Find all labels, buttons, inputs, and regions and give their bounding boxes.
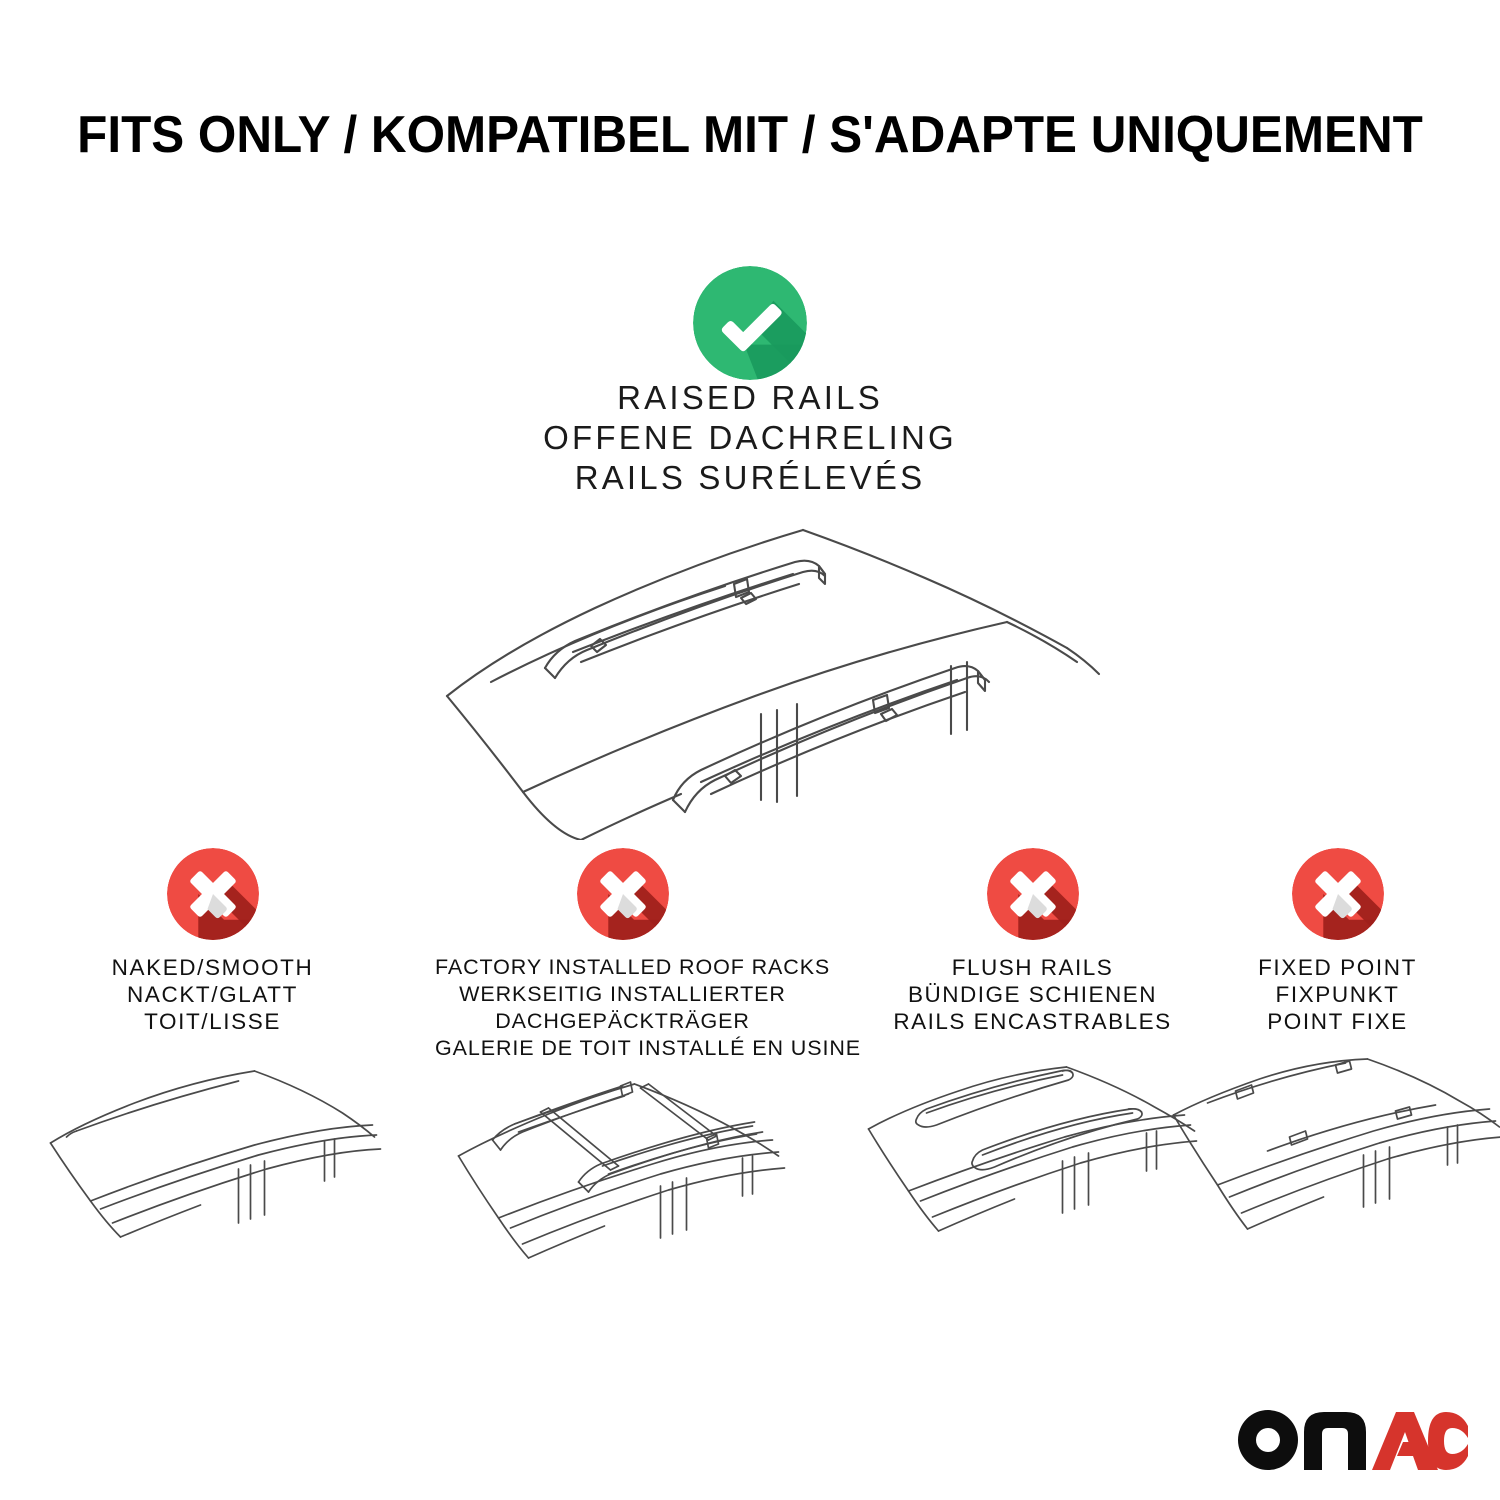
column-label-line: FIXED POINT	[1150, 954, 1500, 981]
car-roof-naked-smooth-illustration	[25, 1051, 400, 1281]
column-label-line: POINT FIXE	[1150, 1008, 1500, 1035]
column-label-line: DACHGEPÄCKTRÄGER	[435, 1008, 810, 1035]
compatible-caption-line: RAISED RAILS	[0, 378, 1500, 418]
column-label: NAKED/SMOOTH NACKT/GLATT TOIT/LISSE	[25, 954, 400, 1035]
car-roof-raised-rails-illustration	[395, 500, 1125, 840]
column-label-line: NACKT/GLATT	[25, 981, 400, 1008]
omac-logo: OMAC	[1232, 1404, 1472, 1476]
car-roof-fixed-point-illustration	[1150, 1051, 1500, 1281]
cross-circle-icon	[1292, 848, 1384, 940]
column-label-line: TOIT/LISSE	[25, 1008, 400, 1035]
incompatible-column-naked-smooth: NAKED/SMOOTH NACKT/GLATT TOIT/LISSE	[25, 848, 400, 1281]
column-label: FACTORY INSTALLED ROOF RACKS WERKSEITIG …	[435, 954, 810, 1062]
page-header: FITS ONLY / KOMPATIBEL MIT / S'ADAPTE UN…	[0, 105, 1500, 165]
cross-circle-icon	[577, 848, 669, 940]
column-label: FIXED POINT FIXPUNKT POINT FIXE	[1150, 954, 1500, 1035]
incompatible-column-fixed-point: FIXED POINT FIXPUNKT POINT FIXE	[1150, 848, 1500, 1281]
column-label-line: GALERIE DE TOIT INSTALLÉ EN USINE	[435, 1035, 810, 1062]
column-label-line: WERKSEITIG INSTALLIERTER	[435, 981, 810, 1008]
compatible-caption-line: RAILS SURÉLEVÉS	[0, 458, 1500, 498]
cross-circle-icon	[167, 848, 259, 940]
car-roof-factory-roof-racks-illustration	[435, 1078, 810, 1308]
column-label-line: NAKED/SMOOTH	[25, 954, 400, 981]
compatible-caption: RAISED RAILS OFFENE DACHRELING RAILS SUR…	[0, 378, 1500, 498]
incompatible-column-factory-roof-racks: FACTORY INSTALLED ROOF RACKS WERKSEITIG …	[435, 848, 810, 1308]
column-label-line: FIXPUNKT	[1150, 981, 1500, 1008]
column-label-line: FACTORY INSTALLED ROOF RACKS	[435, 954, 810, 981]
page-title: FITS ONLY / KOMPATIBEL MIT / S'ADAPTE UN…	[38, 105, 1463, 165]
check-circle-icon	[693, 266, 807, 380]
cross-circle-icon	[987, 848, 1079, 940]
compatible-caption-line: OFFENE DACHRELING	[0, 418, 1500, 458]
